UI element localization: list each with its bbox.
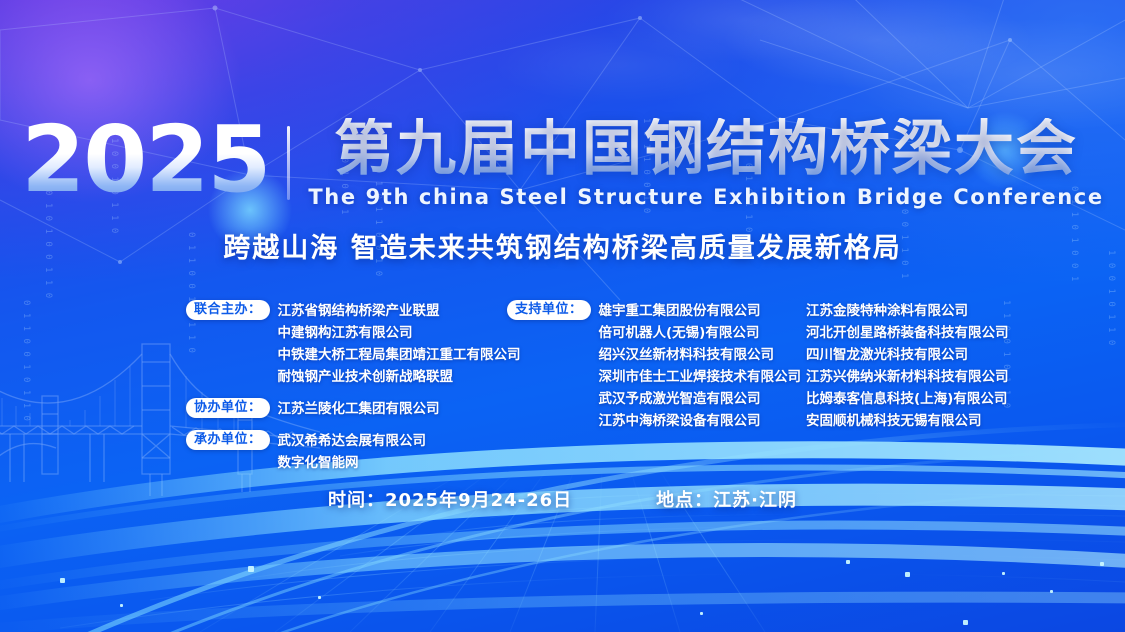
english-title: The 9th china Steel Structure Exhibition…: [308, 185, 1103, 209]
event-location: 地点：江苏·江阴: [656, 486, 797, 512]
credit-group-undertaker: 承办单位： 武汉希希达会展有限公司 数字化智能网: [186, 430, 516, 474]
title-row: 2025 第九届中国钢结构桥梁大会 The 9th china Steel St…: [0, 118, 1125, 209]
co-host-label: 联合主办：: [186, 300, 270, 320]
co-host-entries: 江苏省钢结构桥梁产业联盟 中建钢构江苏有限公司 中铁建大桥工程局集团靖江重工有限…: [278, 300, 521, 388]
spacer: [186, 422, 516, 430]
title-divider: [287, 126, 290, 200]
credit-entry: 武汉希希达会展有限公司: [278, 430, 516, 452]
credit-entry: 四川智龙激光科技有限公司: [806, 344, 1036, 366]
credit-entry: 中建钢构江苏有限公司: [278, 322, 521, 344]
credit-entry: 深圳市佳士工业焊接技术有限公司: [599, 366, 807, 388]
year-text: 2025: [21, 118, 283, 203]
credit-group-co-host: 联合主办： 江苏省钢结构桥梁产业联盟 中建钢构江苏有限公司 中铁建大桥工程局集团…: [186, 300, 516, 388]
supporter-entries-col1: 雄宇重工集团股份有限公司 倍可机器人(无锡)有限公司 绍兴汉丝新材料科技有限公司…: [599, 300, 807, 432]
credit-entry: 数字化智能网: [278, 452, 516, 474]
credit-entry: 绍兴汉丝新材料科技有限公司: [599, 344, 807, 366]
co-organizer-entries: 江苏兰陵化工集团有限公司: [278, 398, 516, 420]
credit-entry: 耐蚀钢产业技术创新战略联盟: [278, 366, 521, 388]
conference-poster: 0 1 0 1 0 0 1 1 0 1 0 0 1 0 1 1 0 0 1 1 …: [0, 0, 1125, 632]
undertaker-label: 承办单位：: [186, 430, 270, 450]
credit-entry: 江苏省钢结构桥梁产业联盟: [278, 300, 521, 322]
credit-entry: 江苏中海桥梁设备有限公司: [599, 410, 807, 432]
headline-block: 2025 第九届中国钢结构桥梁大会 The 9th china Steel St…: [0, 118, 1125, 265]
credit-entry: 比姆泰客信息科技(上海)有限公司: [806, 388, 1036, 410]
credit-entry: 江苏兰陵化工集团有限公司: [278, 398, 516, 420]
credits-column-left: 联合主办： 江苏省钢结构桥梁产业联盟 中建钢构江苏有限公司 中铁建大桥工程局集团…: [186, 300, 516, 476]
footer-block: 时间：2025年9月24-26日 地点：江苏·江阴: [0, 486, 1125, 512]
credit-entry: 倍可机器人(无锡)有限公司: [599, 322, 807, 344]
slogan-text: 跨越山海 智造未来共筑钢结构桥梁高质量发展新格局: [0, 226, 1125, 265]
co-organizer-label: 协办单位：: [186, 398, 270, 418]
credit-entry: 河北开创星路桥装备科技有限公司: [806, 322, 1036, 344]
credits-column-supporters-1: 支持单位： 雄宇重工集团股份有限公司 倍可机器人(无锡)有限公司 绍兴汉丝新材料…: [507, 300, 807, 434]
credit-entry: 江苏兴佛纳米新材料科技有限公司: [806, 366, 1036, 388]
supporters-label: 支持单位：: [507, 300, 591, 320]
credit-group-supporters: 支持单位： 雄宇重工集团股份有限公司 倍可机器人(无锡)有限公司 绍兴汉丝新材料…: [507, 300, 807, 432]
credit-entry: 江苏金陵特种涂料有限公司: [806, 300, 1036, 322]
spacer: [186, 390, 516, 398]
credit-entry: 安固顺机械科技无锡有限公司: [806, 410, 1036, 432]
chinese-title: 第九届中国钢结构桥梁大会: [308, 118, 1103, 181]
event-time: 时间：2025年9月24-26日: [328, 486, 572, 512]
undertaker-entries: 武汉希希达会展有限公司 数字化智能网: [278, 430, 516, 474]
credit-entry: 雄宇重工集团股份有限公司: [599, 300, 807, 322]
credit-group-co-organizer: 协办单位： 江苏兰陵化工集团有限公司: [186, 398, 516, 420]
credit-entry: 中铁建大桥工程局集团靖江重工有限公司: [278, 344, 521, 366]
credit-entry: 武汉予成激光智造有限公司: [599, 388, 807, 410]
credits-column-supporters-2: 江苏金陵特种涂料有限公司 河北开创星路桥装备科技有限公司 四川智龙激光科技有限公…: [806, 300, 1036, 432]
